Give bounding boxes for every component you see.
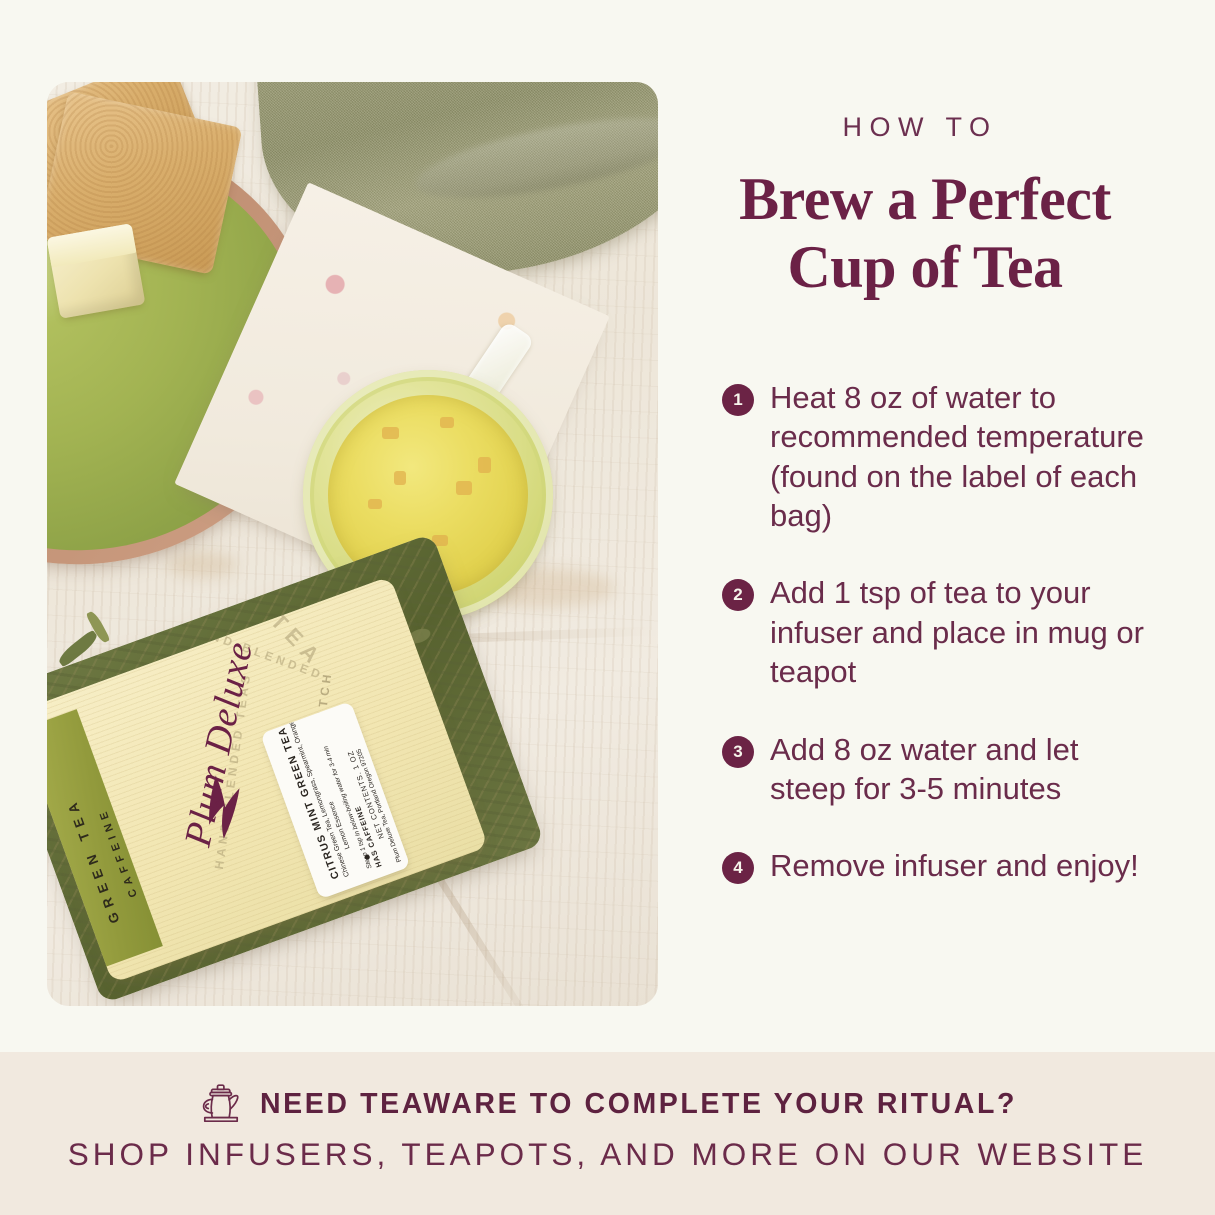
footer-headline: NEED TEAWARE TO COMPLETE YOUR RITUAL? bbox=[260, 1088, 1017, 1121]
step-number-badge: 2 bbox=[722, 579, 754, 611]
brewing-steps-list: 1 Heat 8 oz of water to recommended temp… bbox=[722, 378, 1162, 886]
tea-leaf-fleck bbox=[382, 427, 399, 439]
teapot-icon bbox=[198, 1082, 244, 1126]
tea-leaf-fleck bbox=[440, 417, 454, 428]
tea-leaf-fleck bbox=[478, 457, 491, 473]
cheese-cube bbox=[47, 223, 145, 319]
infographic-page: GREEN TEA CAFFEINE HAND BLENDED TEAS HAN… bbox=[0, 0, 1215, 1215]
step-text: Heat 8 oz of water to recommended temper… bbox=[770, 378, 1162, 535]
step-number-badge: 4 bbox=[722, 852, 754, 884]
step-item: 3 Add 8 oz water and let steep for 3-5 m… bbox=[722, 730, 1162, 809]
hero-photo: GREEN TEA CAFFEINE HAND BLENDED TEAS HAN… bbox=[47, 82, 658, 1006]
step-text: Add 8 oz water and let steep for 3-5 min… bbox=[770, 730, 1162, 809]
step-item: 1 Heat 8 oz of water to recommended temp… bbox=[722, 378, 1162, 535]
page-title-line-1: Brew a Perfect bbox=[690, 165, 1160, 233]
tea-leaf-fleck bbox=[456, 481, 472, 495]
footer-subheadline: SHOP INFUSERS, TEAPOTS, AND MORE ON OUR … bbox=[0, 1136, 1215, 1173]
step-item: 2 Add 1 tsp of tea to your infuser and p… bbox=[722, 573, 1162, 691]
tea-leaf-fleck bbox=[368, 499, 382, 509]
step-item: 4 Remove infuser and enjoy! bbox=[722, 846, 1162, 885]
footer-headline-row: NEED TEAWARE TO COMPLETE YOUR RITUAL? bbox=[0, 1082, 1215, 1126]
step-number-badge: 1 bbox=[722, 384, 754, 416]
page-title: Brew a Perfect Cup of Tea bbox=[690, 165, 1160, 302]
footer-cta-banner[interactable]: NEED TEAWARE TO COMPLETE YOUR RITUAL? SH… bbox=[0, 1052, 1215, 1215]
page-title-line-2: Cup of Tea bbox=[690, 233, 1160, 301]
napkin-fold bbox=[410, 102, 658, 214]
step-text: Remove infuser and enjoy! bbox=[770, 846, 1139, 885]
step-number-badge: 3 bbox=[722, 736, 754, 768]
kicker-how-to: HOW TO bbox=[700, 112, 1140, 143]
step-text: Add 1 tsp of tea to your infuser and pla… bbox=[770, 573, 1162, 691]
tea-leaf-fleck bbox=[394, 471, 406, 485]
wood-stain bbox=[167, 552, 237, 578]
pouch-white-label: CITRUS MINT GREEN TEA Chinese Green Tea,… bbox=[260, 701, 410, 899]
